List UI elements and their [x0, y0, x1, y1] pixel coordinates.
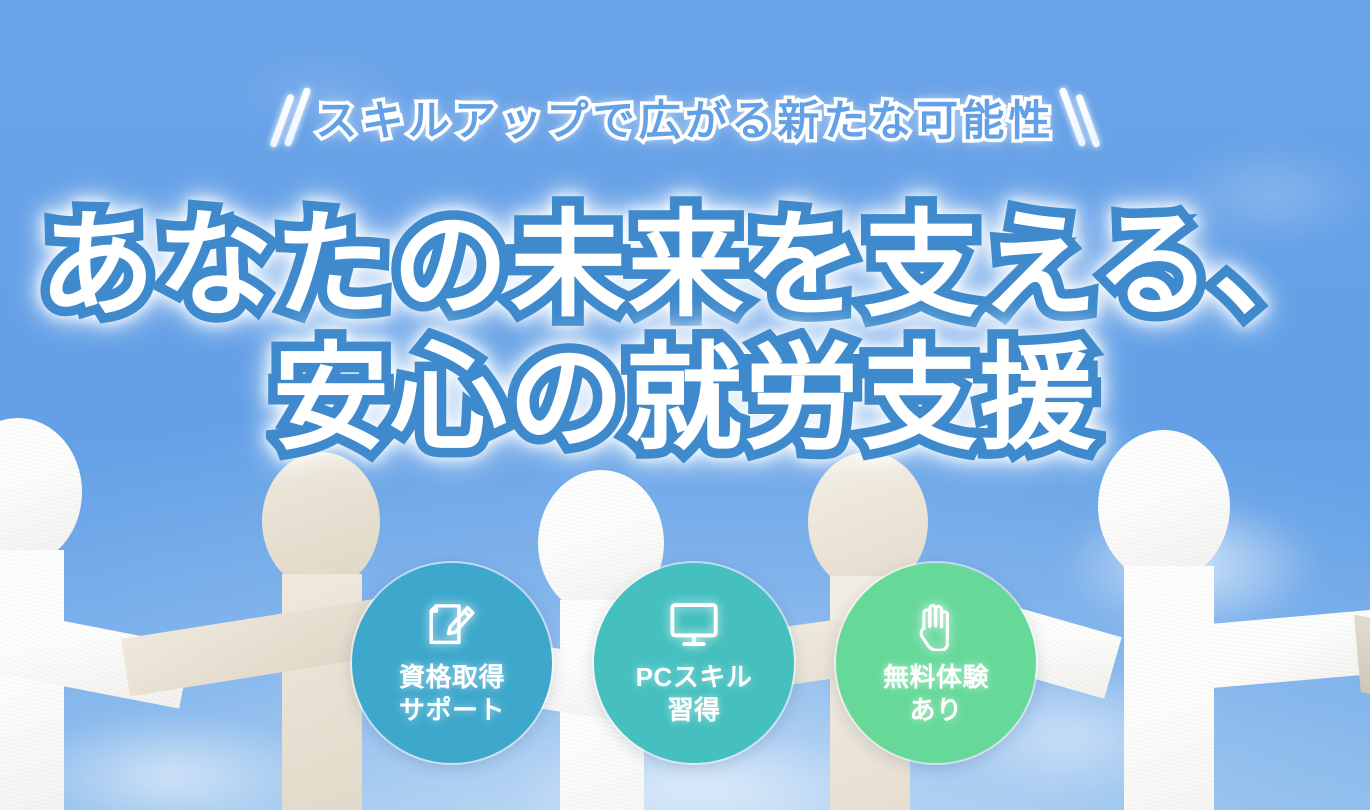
right-slash-decoration — [1069, 86, 1090, 148]
headline-line-1: あなたの未来を支える、 — [0, 196, 1370, 335]
badge-qualification-support[interactable]: 資格取得 サポート — [352, 563, 552, 763]
left-slash-decoration — [280, 86, 301, 148]
badge-free-trial[interactable]: 無料体験 あり — [836, 563, 1036, 763]
eyebrow-row: スキルアップで広がる新たな可能性 — [0, 86, 1370, 148]
badge-label: PCスキル 習得 — [636, 661, 753, 727]
hero-content: スキルアップで広がる新たな可能性 あなたの未来を支える、 安心の就労支援 — [0, 0, 1370, 810]
badge-label-line-2: 習得 — [636, 694, 753, 727]
badge-label-line-1: 無料体験 — [883, 661, 989, 694]
badge-pc-skill[interactable]: PCスキル 習得 — [594, 563, 794, 763]
badge-label: 資格取得 サポート — [399, 661, 505, 727]
badge-label-line-1: 資格取得 — [399, 661, 505, 694]
hand-icon — [908, 599, 964, 651]
feature-badge-group: 資格取得 サポート PCスキル 習得 — [0, 563, 1370, 763]
badge-label: 無料体験 あり — [883, 661, 989, 727]
badge-label-line-2: あり — [883, 694, 989, 727]
hero-banner: スキルアップで広がる新たな可能性 あなたの未来を支える、 安心の就労支援 — [0, 0, 1370, 810]
monitor-icon — [666, 599, 722, 651]
headline-line-2: 安心の就労支援 — [0, 329, 1370, 468]
badge-label-line-1: PCスキル — [636, 661, 753, 694]
eyebrow-text: スキルアップで広がる新たな可能性 — [315, 87, 1054, 148]
document-pencil-icon — [424, 599, 480, 651]
page-title: あなたの未来を支える、 安心の就労支援 — [0, 196, 1370, 468]
badge-label-line-2: サポート — [399, 694, 505, 727]
